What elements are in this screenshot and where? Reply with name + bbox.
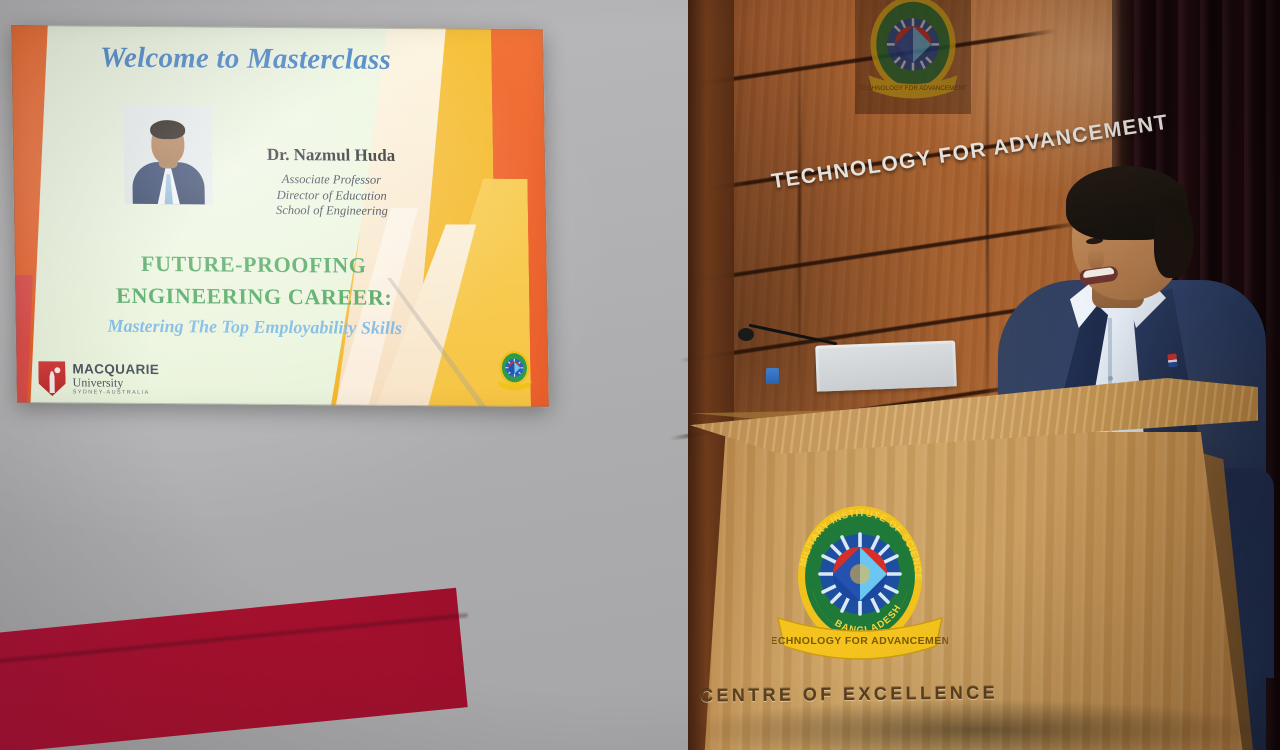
slide-role-line-2: Director of Education bbox=[227, 187, 437, 204]
podium-floor-shadow bbox=[688, 700, 1268, 750]
emblem-ribbon-text-podium: TECHNOLOGY FOR ADVANCEMENT bbox=[772, 635, 948, 647]
macquarie-shield-icon bbox=[38, 361, 66, 396]
laptop-screen bbox=[815, 340, 957, 391]
presentation-photo-scene: TECHNOLOGY FOR ADVANCEMENT TECHNOLOGY FO… bbox=[0, 0, 1280, 750]
macquarie-line-3: SYDNEY-AUSTRALIA bbox=[73, 390, 160, 396]
mist-emblem-podium: MILITARY INSTITUTE OF SCIENCE AND TECHNO… bbox=[772, 502, 948, 670]
slide-main-title-line-2: ENGINEERING CAREER: bbox=[59, 279, 450, 314]
slide-role-line-3: School of Engineering bbox=[227, 203, 437, 220]
headshot-hair bbox=[150, 120, 185, 139]
mist-emblem-wall: TECHNOLOGY FOR ADVANCEMENT bbox=[855, 0, 971, 114]
laptop-display bbox=[818, 343, 954, 391]
shield-lighthouse bbox=[47, 371, 56, 393]
macquarie-university-logo: MACQUARIE University SYDNEY-AUSTRALIA bbox=[38, 361, 159, 397]
shield-dot bbox=[54, 367, 60, 373]
shirt-button bbox=[1108, 376, 1113, 381]
water-bottle bbox=[766, 368, 779, 384]
slide-canvas: Welcome to Masterclass Dr. Nazmul Huda A… bbox=[11, 25, 549, 407]
speaker-hair-side bbox=[1154, 198, 1194, 278]
microphone-head-left bbox=[738, 328, 754, 341]
slide-speaker-headshot bbox=[123, 106, 213, 205]
mist-emblem-slide bbox=[494, 349, 535, 393]
slide-welcome-title: Welcome to Masterclass bbox=[51, 41, 440, 77]
slide-subtitle: Mastering The Top Employability Skills bbox=[60, 315, 450, 339]
slide-main-title: FUTURE-PROOFING ENGINEERING CAREER: bbox=[58, 247, 449, 314]
slide-speaker-name: Dr. Nazmul Huda bbox=[226, 145, 436, 167]
panel-seam-vertical bbox=[798, 0, 801, 420]
slide-main-title-line-1: FUTURE-PROOFING bbox=[58, 247, 449, 282]
projection-screen: Welcome to Masterclass Dr. Nazmul Huda A… bbox=[11, 25, 549, 407]
panel-seam-vertical bbox=[986, 0, 989, 440]
slide-role-line-1: Associate Professor bbox=[226, 172, 436, 189]
flag-pin-icon bbox=[1167, 354, 1177, 368]
macquarie-wordmark: MACQUARIE University SYDNEY-AUSTRALIA bbox=[72, 362, 159, 397]
macquarie-line-2: University bbox=[72, 376, 159, 389]
macquarie-line-1: MACQUARIE bbox=[72, 362, 159, 376]
slide-speaker-role: Associate Professor Director of Educatio… bbox=[226, 172, 437, 220]
emblem-shading bbox=[855, 0, 971, 114]
